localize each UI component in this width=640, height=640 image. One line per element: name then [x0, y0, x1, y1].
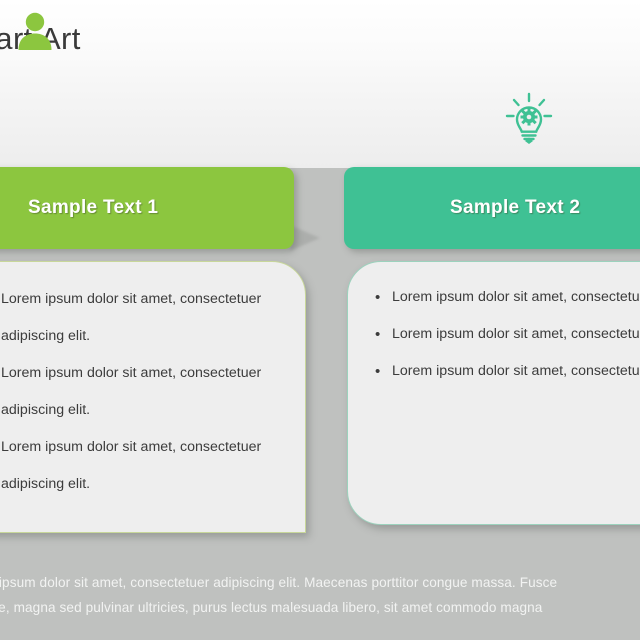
list-item-text: Lorem ipsum dolor sit amet, consectetuer… [392, 363, 640, 379]
list-item: • Lorem ipsum dolor sit amet, consectetu… [374, 321, 640, 348]
list-item: • Lorem ipsum dolor sit amet, consectetu… [374, 358, 640, 385]
paragraph-line: adipiscing elit. [1, 471, 279, 498]
column-header-1[interactable]: Sample Text 1 [0, 167, 294, 249]
column-header-2-label: Sample Text 2 [450, 197, 580, 219]
content-card-2[interactable]: • Lorem ipsum dolor sit amet, consectetu… [347, 261, 640, 525]
content-card-1[interactable]: Lorem ipsum dolor sit amet, consectetuer… [0, 261, 306, 533]
paragraph-line: Lorem ipsum dolor sit amet, consectetuer [1, 360, 279, 387]
column-header-2[interactable]: Sample Text 2 [344, 167, 640, 249]
bullet-icon: • [375, 358, 380, 385]
person-icon [0, 0, 70, 62]
lightbulb-gear-icon [494, 88, 564, 150]
slide-canvas: Smart Art [0, 0, 640, 640]
paragraph-line: Lorem ipsum dolor sit amet, consectetuer [1, 286, 279, 313]
list-item-text: Lorem ipsum dolor sit amet, consectetuer… [392, 289, 640, 305]
bullet-list: • Lorem ipsum dolor sit amet, consectetu… [374, 284, 640, 385]
paragraph-line: adipiscing elit. [1, 397, 279, 424]
bullet-icon: • [375, 284, 380, 311]
footer-line-1: Lorem ipsum dolor sit amet, consectetuer… [0, 570, 640, 595]
right-arrow-icon [290, 225, 320, 251]
column-header-1-label: Sample Text 1 [28, 197, 158, 219]
list-item: • Lorem ipsum dolor sit amet, consectetu… [374, 284, 640, 311]
footer-text-block: Lorem ipsum dolor sit amet, consectetuer… [0, 570, 640, 620]
paragraph-line: adipiscing elit. [1, 323, 279, 350]
bullet-icon: • [375, 321, 380, 348]
footer-line-2: posuere, magna sed pulvinar ultricies, p… [0, 595, 640, 620]
paragraph-line: Lorem ipsum dolor sit amet, consectetuer [1, 434, 279, 461]
list-item-text: Lorem ipsum dolor sit amet, consectetuer… [392, 326, 640, 342]
